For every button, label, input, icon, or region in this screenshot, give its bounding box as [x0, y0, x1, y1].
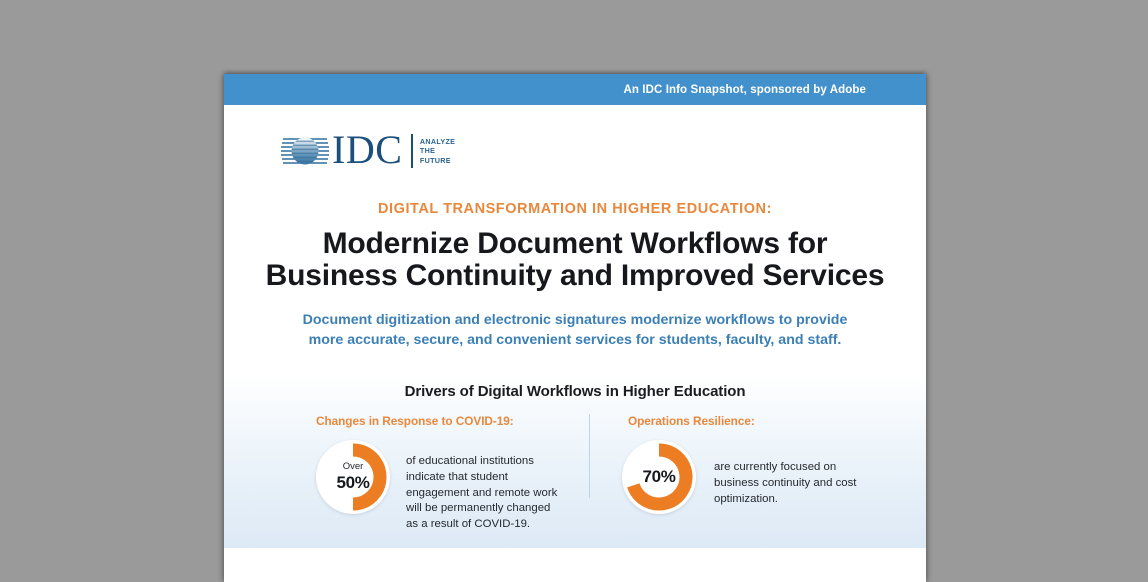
driver-label-covid: Changes in Response to COVID-19: — [316, 414, 562, 428]
driver-text-resilience: are currently focused on business contin… — [714, 440, 868, 507]
drivers-section-title: Drivers of Digital Workflows in Higher E… — [224, 364, 926, 400]
sponsor-bar-text: An IDC Info Snapshot, sponsored by Adobe — [623, 84, 866, 96]
driver-column-resilience: Operations Resilience: 70% are currently — [562, 414, 868, 533]
headline-block: DIGITAL TRANSFORMATION IN HIGHER EDUCATI… — [224, 173, 926, 350]
donut-chart-50: Over 50% — [316, 440, 390, 514]
page-subtitle: Document digitization and electronic sig… — [264, 310, 886, 350]
driver-body-covid: Over 50% of educational institutions ind… — [316, 440, 562, 533]
drivers-section: Drivers of Digital Workflows in Higher E… — [224, 364, 926, 548]
page-title-line-2: Business Continuity and Improved Service… — [264, 260, 886, 292]
logo-divider — [411, 134, 413, 168]
logo-tagline-line-2: THE — [420, 146, 455, 155]
driver-body-resilience: 70% are currently focused on business co… — [622, 440, 868, 514]
column-divider — [589, 414, 590, 498]
page-subtitle-line-2: more accurate, secure, and convenient se… — [278, 330, 872, 350]
logo-tagline: ANALYZE THE FUTURE — [420, 137, 455, 165]
driver-label-resilience: Operations Resilience: — [622, 414, 868, 428]
globe-icon — [281, 130, 329, 172]
screenshot-viewport: An IDC Info Snapshot, sponsored by Adobe — [0, 0, 1148, 582]
page-title: Modernize Document Workflows for Busines… — [264, 228, 886, 293]
logo-tagline-line-3: FUTURE — [420, 156, 455, 165]
drivers-columns: Changes in Response to COVID-19: Over 50… — [224, 414, 926, 533]
idc-logo: IDC ANALYZE THE FUTURE — [281, 129, 926, 173]
page-title-line-1: Modernize Document Workflows for — [264, 228, 886, 260]
document-page: An IDC Info Snapshot, sponsored by Adobe — [224, 74, 926, 582]
idc-wordmark: IDC — [332, 130, 402, 170]
page-subtitle-line-1: Document digitization and electronic sig… — [278, 310, 872, 330]
eyebrow-text: DIGITAL TRANSFORMATION IN HIGHER EDUCATI… — [264, 201, 886, 217]
donut-chart-70: 70% — [622, 440, 696, 514]
driver-text-covid: of educational institutions indicate tha… — [406, 440, 562, 533]
driver-column-covid: Changes in Response to COVID-19: Over 50… — [282, 414, 562, 533]
logo-region: IDC ANALYZE THE FUTURE — [224, 105, 926, 173]
sponsor-bar: An IDC Info Snapshot, sponsored by Adobe — [224, 74, 926, 105]
logo-tagline-line-1: ANALYZE — [420, 137, 455, 146]
